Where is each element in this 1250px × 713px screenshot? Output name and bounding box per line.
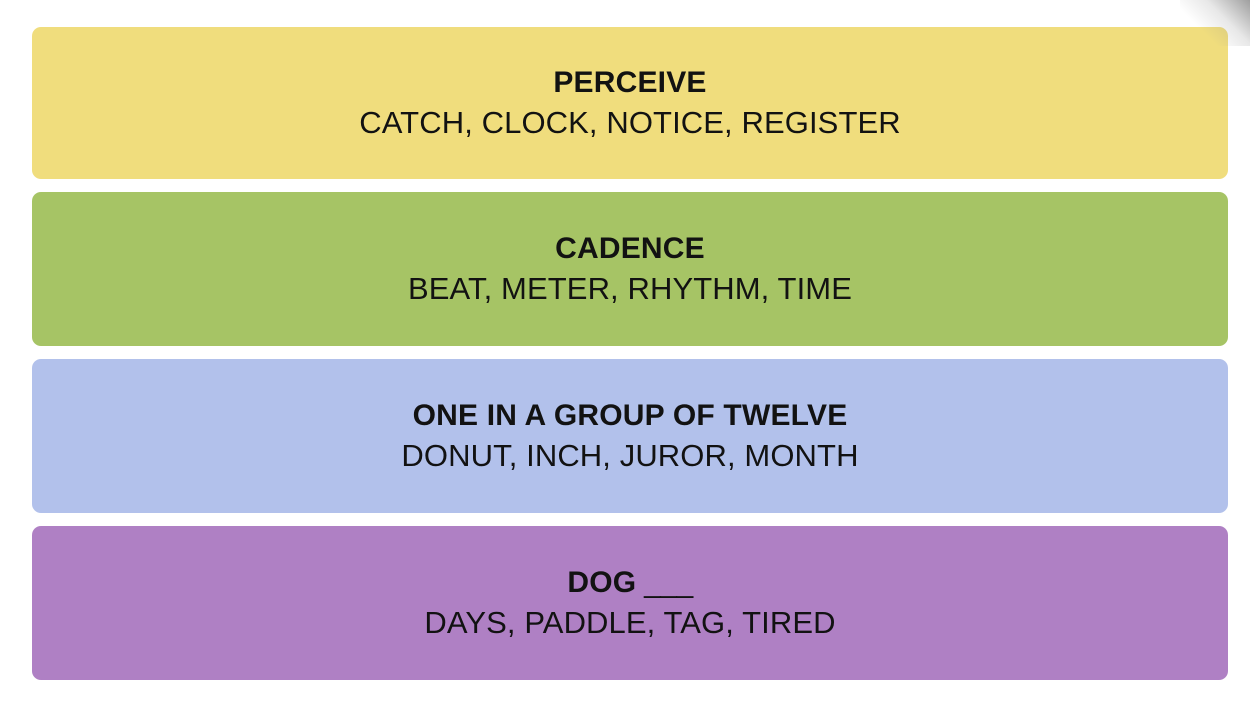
group-title-blank: ___ (636, 566, 692, 599)
group-title-purple: DOG ___ (567, 567, 692, 599)
group-card-list: PERCEIVE CATCH, CLOCK, NOTICE, REGISTER … (32, 27, 1228, 680)
group-card-green[interactable]: CADENCE BEAT, METER, RHYTHM, TIME (32, 192, 1228, 346)
group-members-blue: DONUT, INCH, JUROR, MONTH (401, 439, 858, 472)
group-card-purple[interactable]: DOG ___ DAYS, PADDLE, TAG, TIRED (32, 526, 1228, 680)
group-members-green: BEAT, METER, RHYTHM, TIME (408, 272, 852, 305)
group-title-text: DOG (567, 566, 636, 599)
group-title-text: ONE IN A GROUP OF TWELVE (413, 399, 848, 432)
group-card-yellow[interactable]: PERCEIVE CATCH, CLOCK, NOTICE, REGISTER (32, 27, 1228, 179)
group-title-green: CADENCE (555, 233, 705, 265)
group-members-yellow: CATCH, CLOCK, NOTICE, REGISTER (359, 106, 901, 139)
group-title-text: PERCEIVE (553, 66, 706, 99)
group-card-blue[interactable]: ONE IN A GROUP OF TWELVE DONUT, INCH, JU… (32, 359, 1228, 513)
group-title-yellow: PERCEIVE (553, 67, 706, 99)
group-title-blue: ONE IN A GROUP OF TWELVE (413, 400, 848, 432)
connections-solved-board: PERCEIVE CATCH, CLOCK, NOTICE, REGISTER … (0, 0, 1250, 713)
group-title-text: CADENCE (555, 232, 705, 265)
group-members-purple: DAYS, PADDLE, TAG, TIRED (424, 606, 835, 639)
